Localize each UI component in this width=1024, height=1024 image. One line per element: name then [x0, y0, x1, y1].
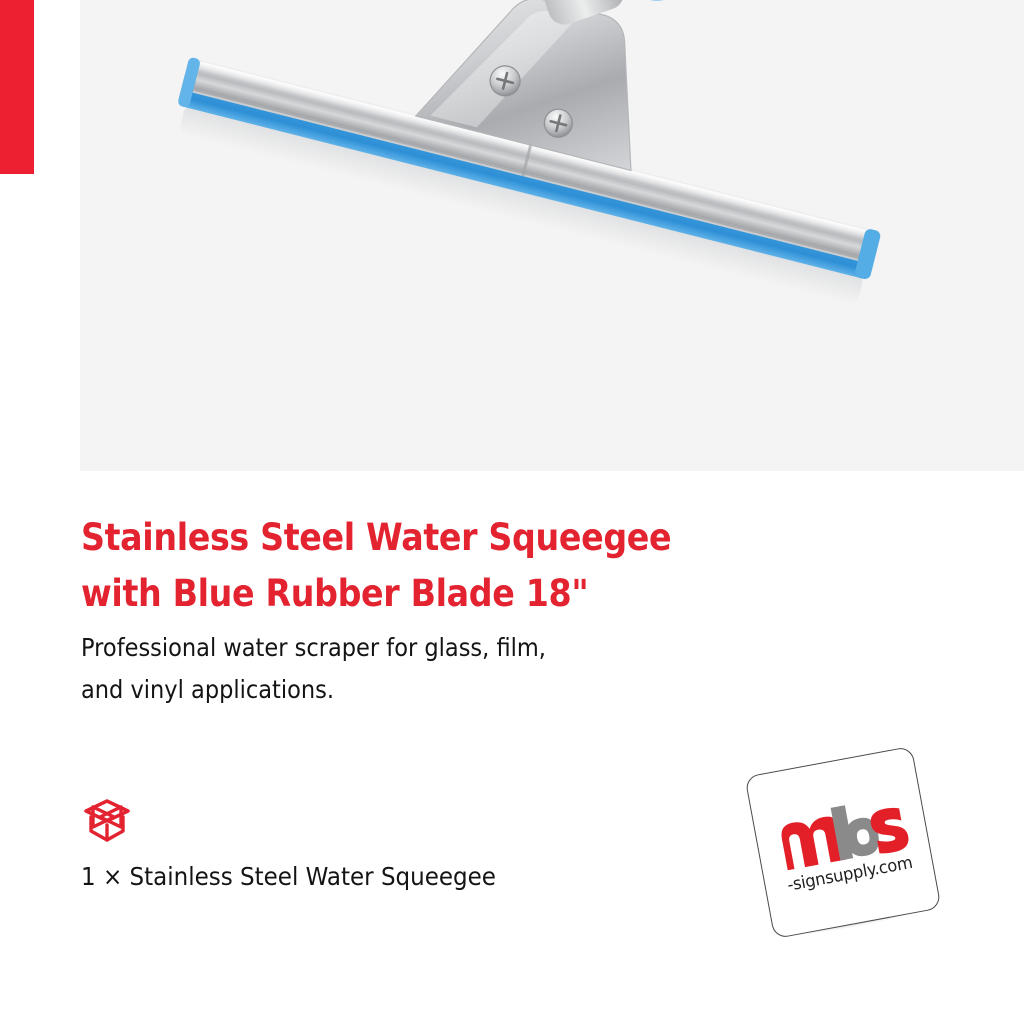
product-photo-squeegee — [80, 0, 1024, 471]
accent-bar — [0, 0, 34, 174]
product-image-panel — [80, 0, 1024, 471]
logo-content: -signsupply.com — [746, 747, 943, 940]
product-subtitle: Professional water scraper for glass, fi… — [81, 627, 711, 711]
brand-logo: -signsupply.com — [746, 752, 946, 942]
package-contents-line: 1 × Stainless Steel Water Squeegee — [81, 860, 780, 894]
product-card: Stainless Steel Water Squeegee with Blue… — [0, 0, 1024, 1024]
product-title: Stainless Steel Water Squeegee with Blue… — [81, 510, 711, 622]
open-box-icon — [80, 797, 134, 847]
logo-card: -signsupply.com — [744, 746, 941, 939]
